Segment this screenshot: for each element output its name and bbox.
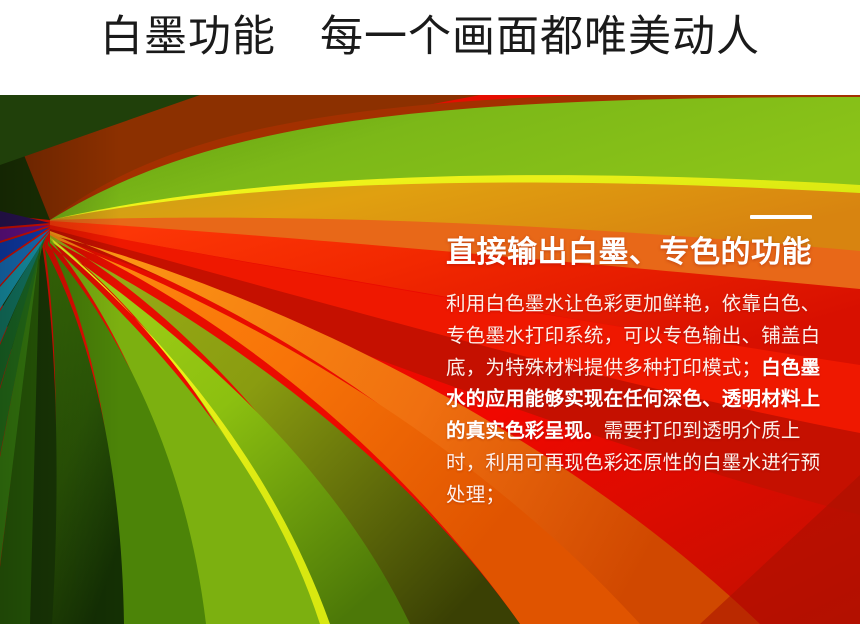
promo-page: 白墨功能 每一个画面都唯美动人 — [0, 0, 860, 624]
page-title: 白墨功能 每一个画面都唯美动人 — [100, 11, 760, 63]
divider-rule — [750, 215, 812, 219]
page-header: 白墨功能 每一个画面都唯美动人 — [0, 0, 860, 95]
hero-banner: 直接输出白墨、专色的功能 利用白色墨水让色彩更加鲜艳，依靠白色、专色墨水打印系统… — [0, 95, 860, 624]
hero-body-copy: 利用白色墨水让色彩更加鲜艳，依靠白色、专色墨水打印系统，可以专色输出、铺盖白底，… — [446, 288, 836, 511]
hero-text-block: 直接输出白墨、专色的功能 利用白色墨水让色彩更加鲜艳，依靠白色、专色墨水打印系统… — [446, 215, 836, 511]
hero-subtitle: 直接输出白墨、专色的功能 — [446, 234, 836, 272]
